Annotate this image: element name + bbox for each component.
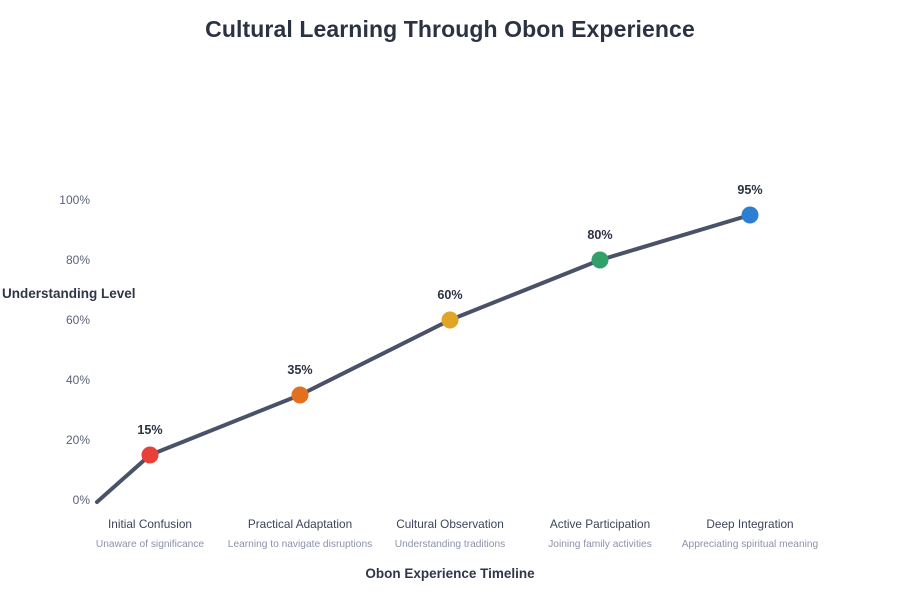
y-tick-label: 100%	[10, 193, 90, 207]
point-value-label: 95%	[690, 183, 810, 198]
y-tick-label: 20%	[10, 433, 90, 447]
data-point-marker[interactable]	[592, 252, 609, 269]
x-category-label: Deep Integration	[640, 517, 860, 531]
trend-line	[97, 215, 750, 502]
data-point-marker[interactable]	[142, 447, 159, 464]
y-tick-label: 0%	[10, 493, 90, 507]
y-tick-label: 80%	[10, 253, 90, 267]
y-tick-label: 40%	[10, 373, 90, 387]
point-value-label: 15%	[90, 423, 210, 438]
x-axis-title: Obon Experience Timeline	[0, 566, 900, 581]
data-point-marker[interactable]	[742, 207, 759, 224]
chart-container: Cultural Learning Through Obon Experienc…	[0, 0, 900, 600]
data-point-markers	[142, 207, 759, 464]
y-tick-label: 60%	[10, 313, 90, 327]
data-point-marker[interactable]	[442, 312, 459, 329]
x-category-sublabel: Appreciating spiritual meaning	[640, 539, 860, 550]
point-value-label: 60%	[390, 288, 510, 303]
point-value-label: 80%	[540, 228, 660, 243]
y-axis-title: Understanding Level	[2, 286, 136, 301]
point-value-label: 35%	[240, 363, 360, 378]
data-point-marker[interactable]	[292, 387, 309, 404]
